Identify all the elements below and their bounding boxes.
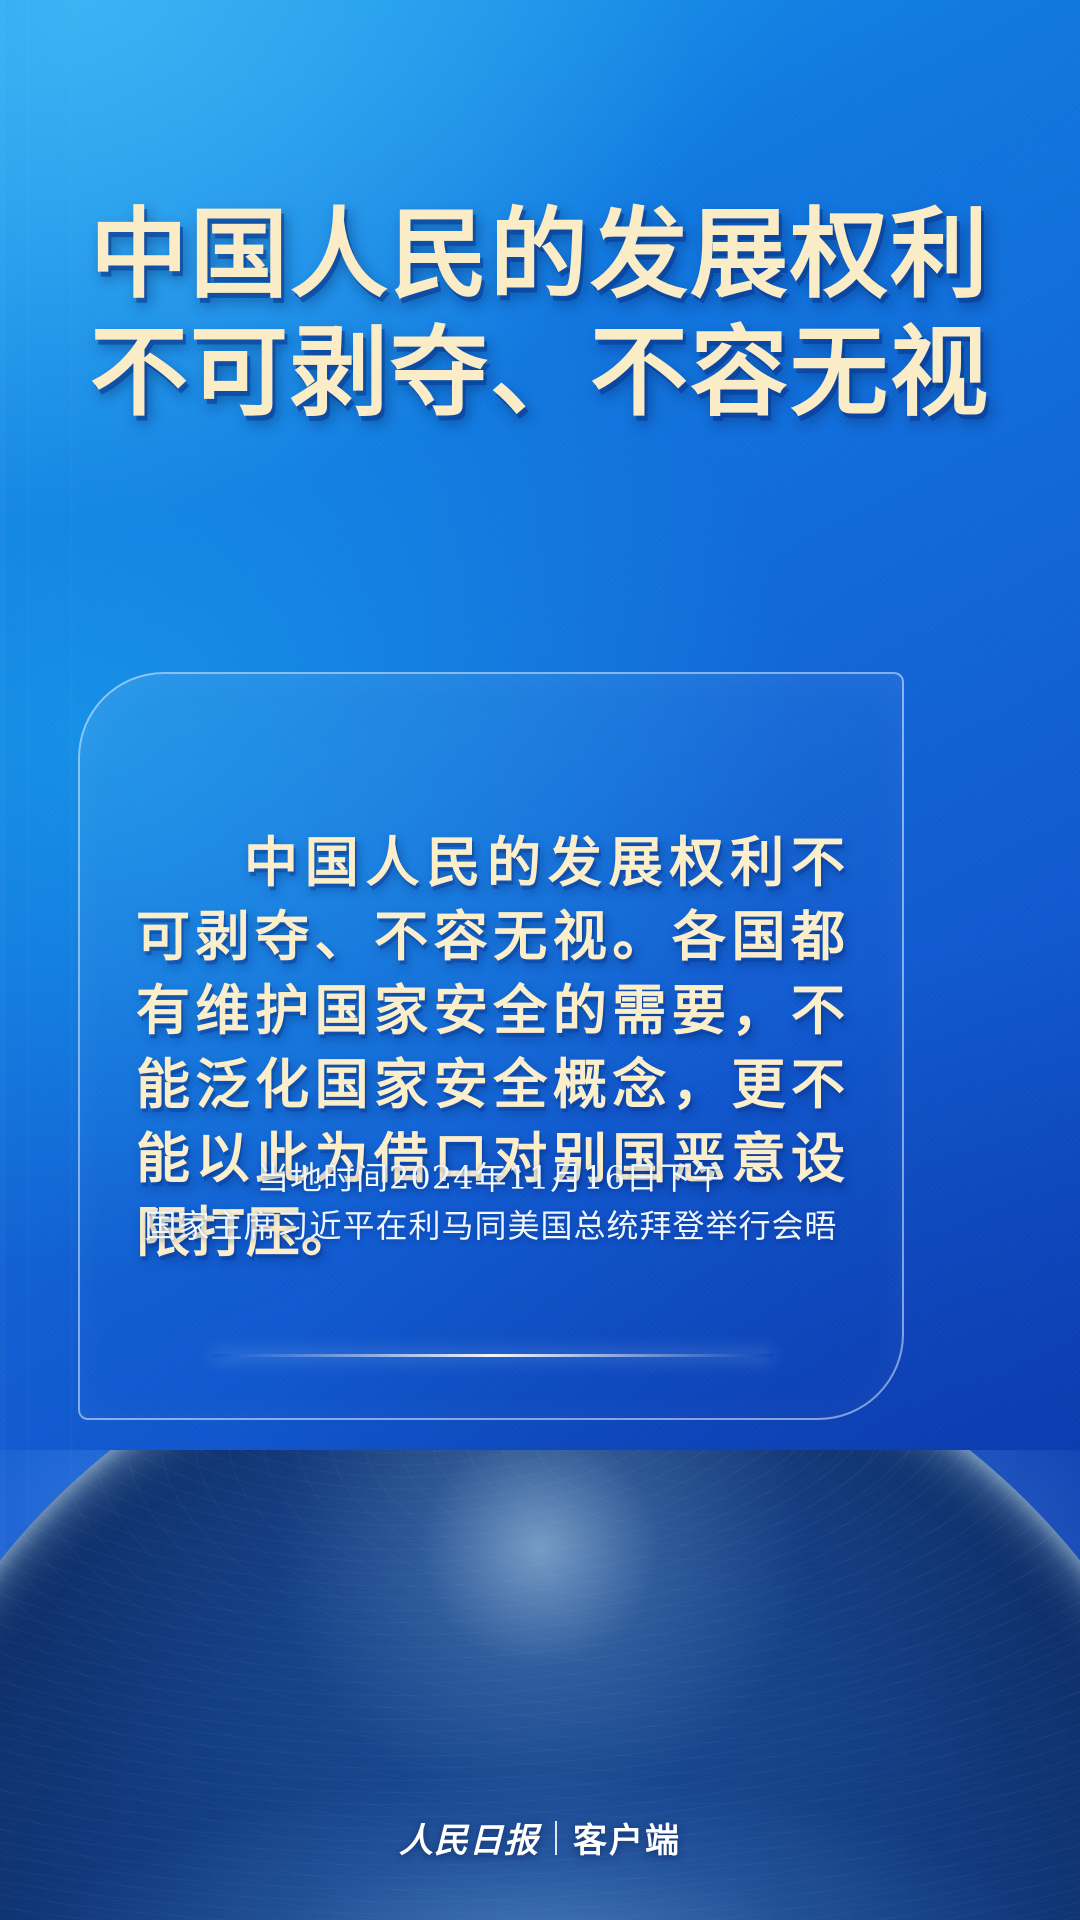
title-line-2: 不可剥夺、不容无视 xyxy=(0,314,1080,432)
logo-separator-icon xyxy=(555,1821,557,1855)
logo-product-text: 客户端 xyxy=(573,1813,681,1862)
logo-brand-text: 人民日报 xyxy=(399,1813,539,1862)
caption-line-1: 当地时间2024年11月16日下午 xyxy=(80,1154,902,1202)
glow-divider-icon xyxy=(212,1354,774,1357)
publisher-logo: 人民日报 客户端 xyxy=(0,1813,1080,1862)
title-line-1: 中国人民的发展权利 xyxy=(0,196,1080,314)
caption-line-2: 国家主席习近平在利马同美国总统拜登举行会晤 xyxy=(80,1202,902,1250)
quote-card: 中国人民的发展权利不可剥夺、不容无视。各国都有维护国家安全的需要，不能泛化国家安… xyxy=(78,672,904,1420)
caption-block: 当地时间2024年11月16日下午 国家主席习近平在利马同美国总统拜登举行会晤 xyxy=(80,1154,902,1250)
page-title: 中国人民的发展权利 不可剥夺、不容无视 xyxy=(0,196,1080,432)
poster-root: 中国人民的发展权利 不可剥夺、不容无视 中国人民的发展权利不可剥夺、不容无视。各… xyxy=(0,0,1080,1920)
